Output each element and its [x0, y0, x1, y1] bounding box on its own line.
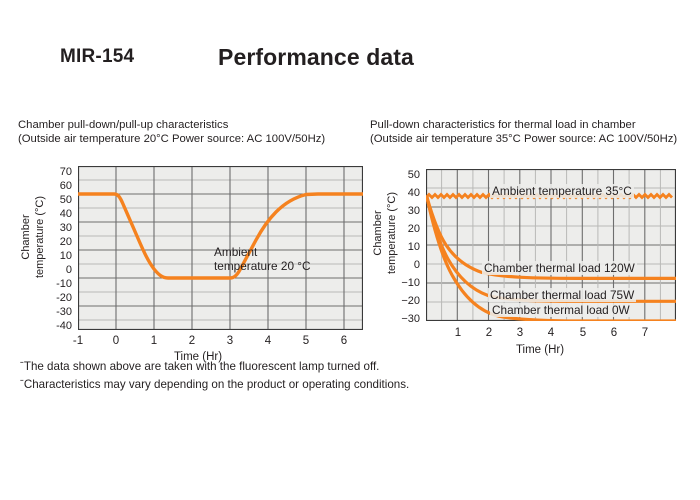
page-header: MIR-154 Performance data [0, 44, 700, 78]
left-ytick-m40: -40 [32, 321, 72, 332]
right-x-axis-title: Time (Hr) [490, 344, 590, 356]
left-ytick-0: 0 [32, 265, 72, 276]
right-caption-line2: (Outside air temperature 35°C Power sour… [370, 132, 690, 146]
right-ytick-m20: −20 [382, 296, 420, 307]
left-caption-line1: Chamber pull-down/pull-up characteristic… [18, 118, 366, 132]
left-ytick-10: 10 [32, 251, 72, 262]
left-ytick-40: 40 [32, 209, 72, 220]
chart-panel-right: Pull-down characteristics for thermal lo… [370, 118, 690, 370]
right-xtick-5: 5 [571, 327, 595, 339]
right-xtick-6: 6 [602, 327, 626, 339]
right-ytick-40: 40 [382, 188, 420, 199]
right-xtick-1: 1 [446, 327, 470, 339]
left-caption-line2: (Outside air temperature 20°C Power sour… [18, 132, 366, 146]
footnote-2: ˉCharacteristics may vary depending on t… [20, 376, 660, 394]
left-ytick-20: 20 [32, 237, 72, 248]
right-chart-caption: Pull-down characteristics for thermal lo… [370, 118, 690, 147]
right-ytick-0: 0 [382, 260, 420, 271]
left-xtick-3: 3 [218, 335, 242, 347]
right-ytick-m30: −30 [382, 314, 420, 325]
right-annotation-load-0w: Chamber thermal load 0W [490, 303, 632, 317]
footnotes-block: ˉThe data shown above are taken with the… [20, 358, 660, 393]
left-xtick-2: 2 [180, 335, 204, 347]
left-xtick-6: 6 [332, 335, 356, 347]
left-chart-figure: Chamber temperature (°C) 70 60 50 40 30 … [18, 155, 366, 370]
left-chart-caption: Chamber pull-down/pull-up characteristic… [18, 118, 366, 147]
right-ytick-20: 20 [382, 224, 420, 235]
right-caption-line1: Pull-down characteristics for thermal lo… [370, 118, 690, 132]
left-xtick-4: 4 [256, 335, 280, 347]
model-code: MIR-154 [60, 44, 134, 70]
left-ytick-m20: -20 [32, 293, 72, 304]
right-ytick-50: 50 [382, 170, 420, 181]
right-ytick-30: 30 [382, 206, 420, 217]
right-ytick-10: 10 [382, 242, 420, 253]
right-xtick-4: 4 [539, 327, 563, 339]
left-xtick-5: 5 [294, 335, 318, 347]
right-annotation-ambient: Ambient temperature 35°C [490, 184, 634, 198]
left-xtick-1: 1 [142, 335, 166, 347]
left-xtick-0: 0 [104, 335, 128, 347]
left-xtick-m1: -1 [66, 335, 90, 347]
left-ytick-m30: -30 [32, 307, 72, 318]
right-xtick-7: 7 [633, 327, 657, 339]
right-xtick-2: 2 [477, 327, 501, 339]
right-annotation-load-75w: Chamber thermal load 75W [488, 288, 636, 302]
left-ytick-60: 60 [32, 181, 72, 192]
chart-panel-left: Chamber pull-down/pull-up characteristic… [18, 118, 366, 370]
left-ytick-m10: -10 [32, 279, 72, 290]
left-ytick-30: 30 [32, 223, 72, 234]
left-chart-annotation-line2: temperature 20 °C [214, 259, 311, 273]
right-xtick-3: 3 [508, 327, 532, 339]
left-y-axis-title: Chamber [20, 167, 33, 307]
left-ytick-70: 70 [32, 167, 72, 178]
right-chart-figure: Chamber temperature (°C) 50 40 30 20 10 … [370, 155, 690, 370]
page-title: Performance data [218, 42, 414, 72]
left-chart-annotation-line1: Ambient [214, 245, 257, 259]
footnote-1: ˉThe data shown above are taken with the… [20, 358, 660, 376]
right-ytick-m10: −10 [382, 278, 420, 289]
left-ytick-50: 50 [32, 195, 72, 206]
right-annotation-load-120w: Chamber thermal load 120W [482, 261, 637, 275]
